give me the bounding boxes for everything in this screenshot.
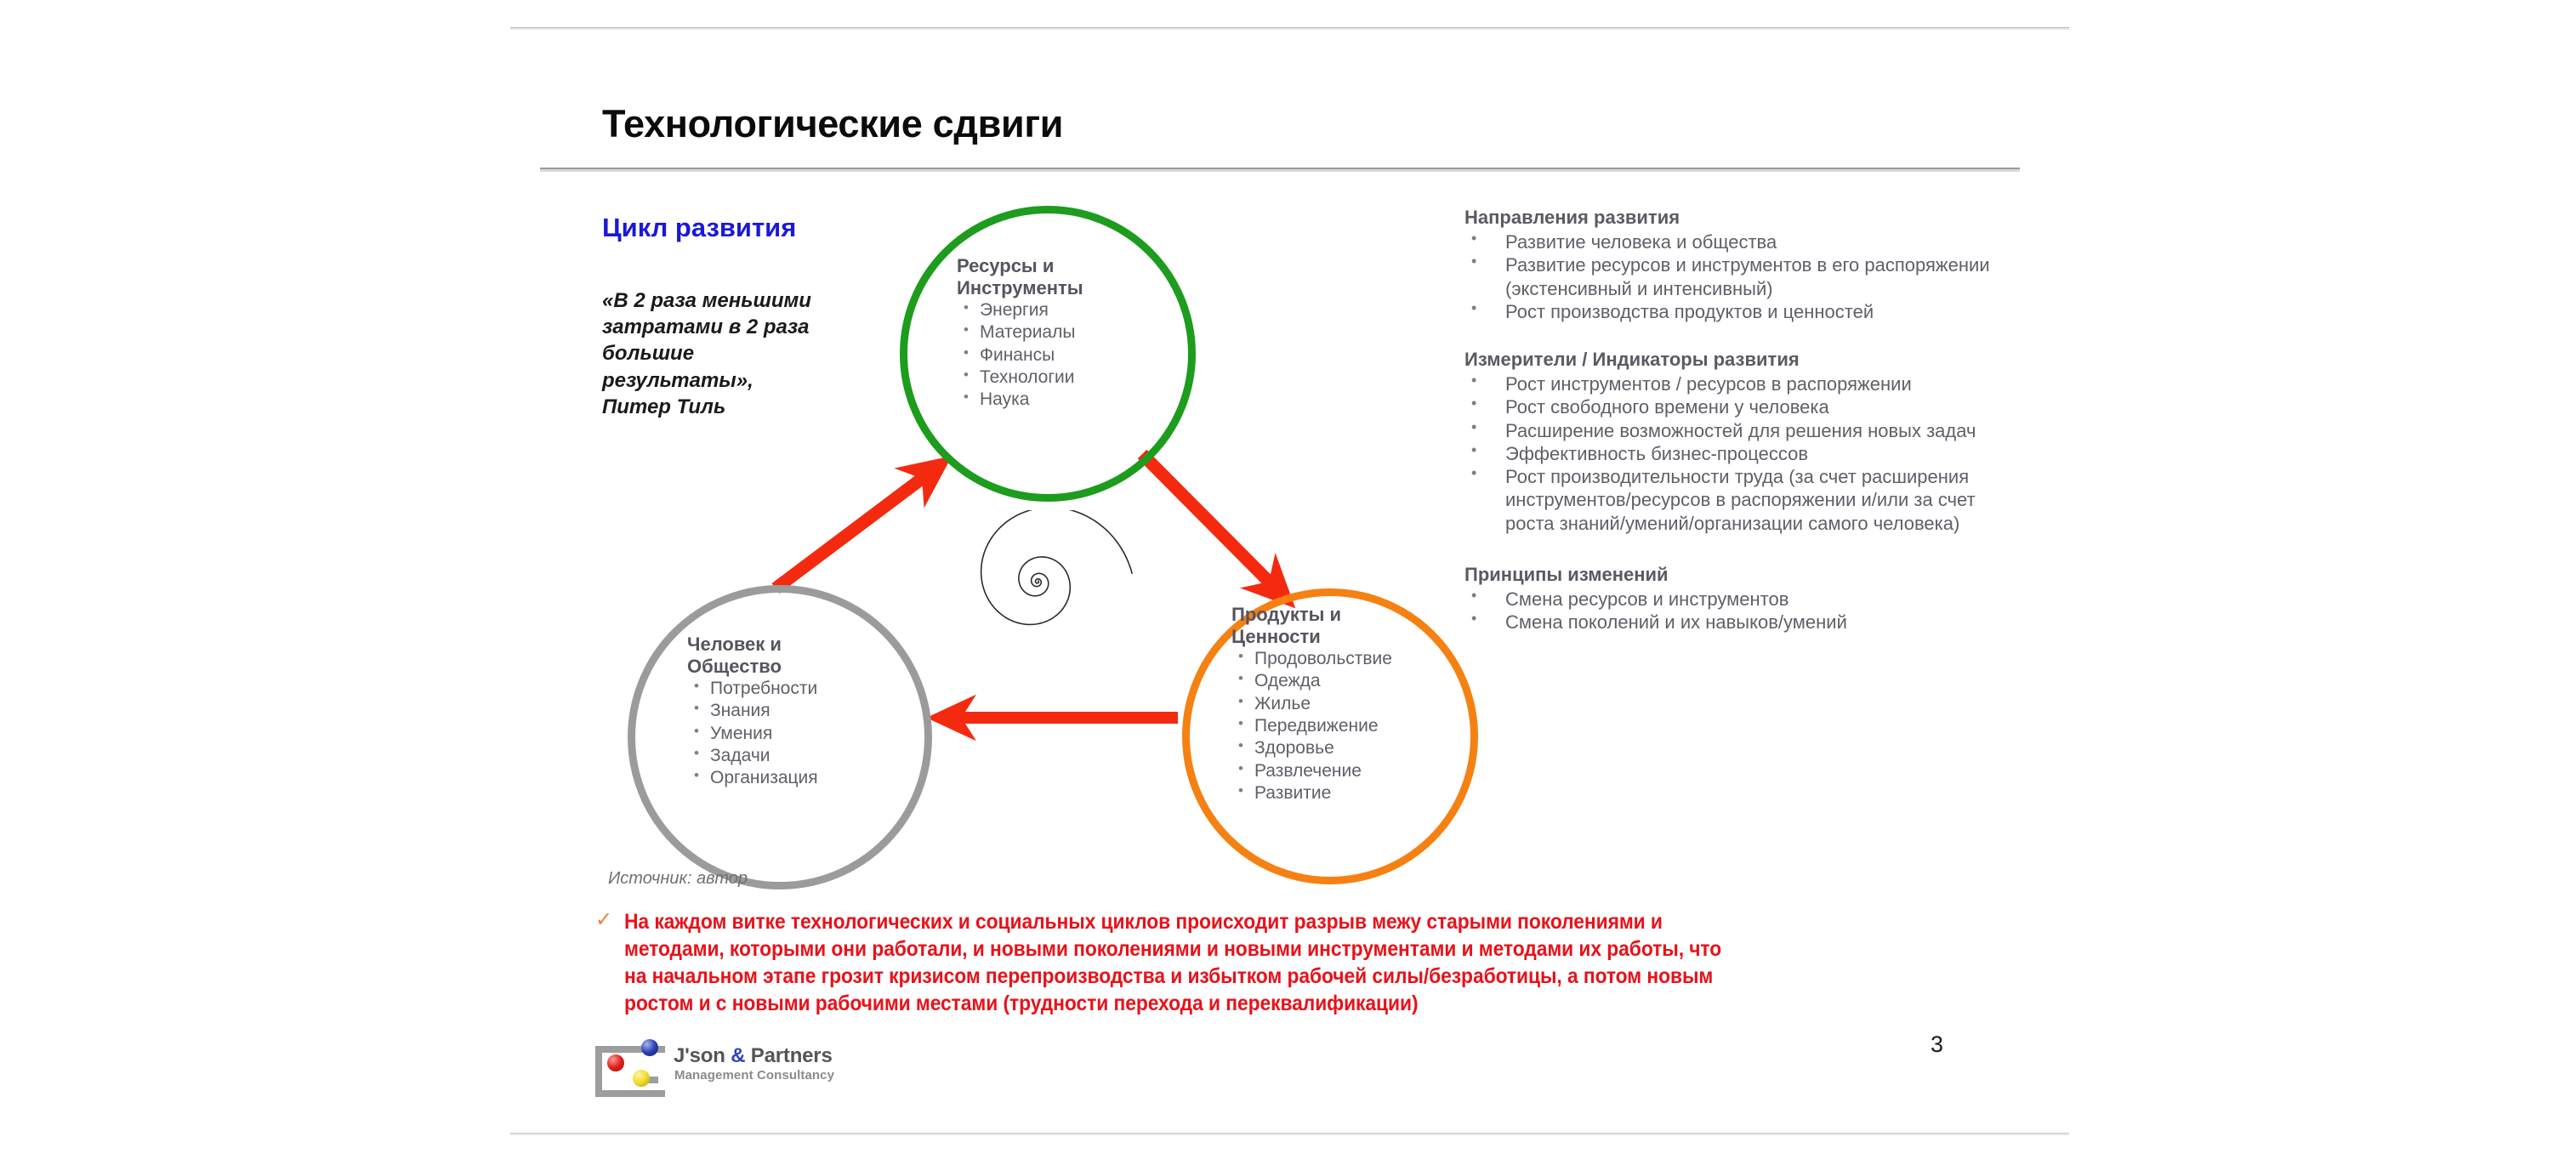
node-text-products: Продукты и Ценности Продовольствие Одежд… xyxy=(1231,604,1392,804)
page-number: 3 xyxy=(1931,1031,1943,1058)
node-item: Здоровье xyxy=(1231,737,1392,759)
section-item: Эффективность бизнес-процессов xyxy=(1464,442,1992,465)
section-items: Развитие человека и общества Развитие ре… xyxy=(1464,230,1992,323)
node-item: Развлечение xyxy=(1231,760,1392,782)
node-item: Продовольствие xyxy=(1231,648,1392,670)
logo-tagline: Management Consultancy xyxy=(674,1068,834,1083)
node-title-line: Продукты и xyxy=(1231,604,1392,626)
node-item: Организация xyxy=(687,767,818,789)
node-items-resources: Энергия Материалы Финансы Технологии Нау… xyxy=(957,299,1083,412)
source-note: Источник: автор xyxy=(608,869,748,889)
section-item: Рост производительности труда (за счет р… xyxy=(1464,465,1992,535)
node-item: Материалы xyxy=(957,321,1083,344)
section-items: Смена ресурсов и инструментов Смена поко… xyxy=(1464,588,1992,634)
logo-name-part2: Partners xyxy=(745,1044,832,1067)
node-item: Жилье xyxy=(1231,693,1392,715)
node-item: Технологии xyxy=(957,367,1083,389)
conclusion-line: ростом и с новыми рабочими местами (труд… xyxy=(624,990,1783,1017)
logo-blue-sphere-icon xyxy=(641,1039,658,1056)
node-item: Знания xyxy=(687,700,818,722)
node-title-line: Человек и xyxy=(687,634,818,656)
company-logo: J'son & Partners Management Consultancy xyxy=(595,1039,833,1087)
section-item: Рост свободного времени у человека xyxy=(1464,395,1992,418)
node-title-line: Ресурсы и xyxy=(957,255,1083,277)
node-text-people: Человек и Общество Потребности Знания Ум… xyxy=(687,634,818,790)
node-title-resources: Ресурсы и Инструменты xyxy=(957,255,1083,298)
section-item: Рост инструментов / ресурсов в распоряже… xyxy=(1464,372,1992,395)
node-item: Развитие xyxy=(1231,782,1392,804)
node-item: Умения xyxy=(687,723,818,745)
logo-name-part1: J'son xyxy=(674,1044,731,1067)
logo-red-sphere-icon xyxy=(607,1054,624,1071)
checkmark-icon: ✓ xyxy=(595,910,612,930)
conclusion-line: на начальном этапе грозит кризисом переп… xyxy=(624,963,1783,990)
node-item: Задачи xyxy=(687,745,818,767)
conclusion-line: методами, которыми они работали, и новым… xyxy=(624,935,1783,963)
logo-company-name: J'son & Partners xyxy=(674,1044,833,1068)
section-heading: Принципы изменений xyxy=(1464,564,1992,586)
section-item: Рост производства продуктов и ценностей xyxy=(1464,300,1992,323)
node-items-people: Потребности Знания Умения Задачи Организ… xyxy=(687,678,818,790)
section-spacer xyxy=(1464,535,1992,564)
section-heading: Направления развития xyxy=(1464,207,1992,229)
right-column: Направления развития Развитие человека и… xyxy=(1464,207,1992,634)
node-item: Наука xyxy=(957,389,1083,411)
node-items-products: Продовольствие Одежда Жилье Передвижение… xyxy=(1231,648,1392,804)
node-item: Энергия xyxy=(957,299,1083,321)
node-title-line: Общество xyxy=(687,656,818,678)
node-title-products: Продукты и Ценности xyxy=(1231,604,1392,647)
section-heading: Измерители / Индикаторы развития xyxy=(1464,349,1992,371)
section-items: Рост инструментов / ресурсов в распоряже… xyxy=(1464,372,1992,535)
arrow-people-to-resources xyxy=(776,473,930,588)
node-title-line: Ценности xyxy=(1231,626,1392,648)
logo-name-ampersand: & xyxy=(731,1044,745,1067)
section-item: Развитие ресурсов и инструментов в его р… xyxy=(1464,253,1992,300)
node-text-resources: Ресурсы и Инструменты Энергия Материалы … xyxy=(957,255,1083,412)
section-directions: Направления развития Развитие человека и… xyxy=(1464,207,1992,323)
node-item: Потребности xyxy=(687,678,818,700)
conclusion-text: На каждом витке технологических и социал… xyxy=(624,908,1891,1018)
section-item: Расширение возможностей для решения новы… xyxy=(1464,419,1992,442)
node-item: Финансы xyxy=(957,344,1083,367)
conclusion-line: На каждом витке технологических и социал… xyxy=(624,908,1783,935)
node-title-people: Человек и Общество xyxy=(687,634,818,677)
section-item: Развитие человека и общества xyxy=(1464,230,1992,253)
arrow-resources-to-products xyxy=(1142,454,1276,588)
logo-yellow-sphere-icon xyxy=(633,1070,650,1087)
section-item: Смена поколений и их навыков/умений xyxy=(1464,611,1992,634)
node-item: Одежда xyxy=(1231,670,1392,692)
section-spacer xyxy=(1464,323,1992,349)
node-title-line: Инструменты xyxy=(957,277,1083,299)
section-indicators: Измерители / Индикаторы развития Рост ин… xyxy=(1464,349,1992,535)
node-item: Передвижение xyxy=(1231,715,1392,737)
section-item: Смена ресурсов и инструментов xyxy=(1464,588,1992,611)
section-principles: Принципы изменений Смена ресурсов и инст… xyxy=(1464,564,1992,634)
